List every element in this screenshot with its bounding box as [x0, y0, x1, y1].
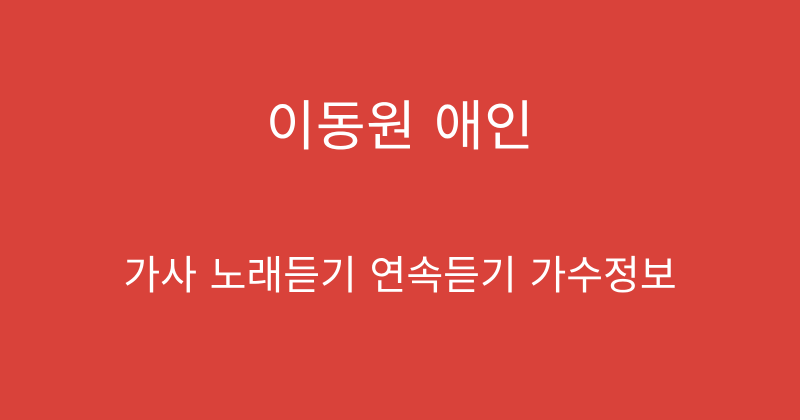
song-action-links[interactable]: 가사 노래듣기 연속듣기 가수정보	[0, 256, 800, 296]
page-title: 이동원 애인	[0, 100, 800, 154]
song-info-card: 이동원 애인 가사 노래듣기 연속듣기 가수정보	[0, 0, 800, 420]
